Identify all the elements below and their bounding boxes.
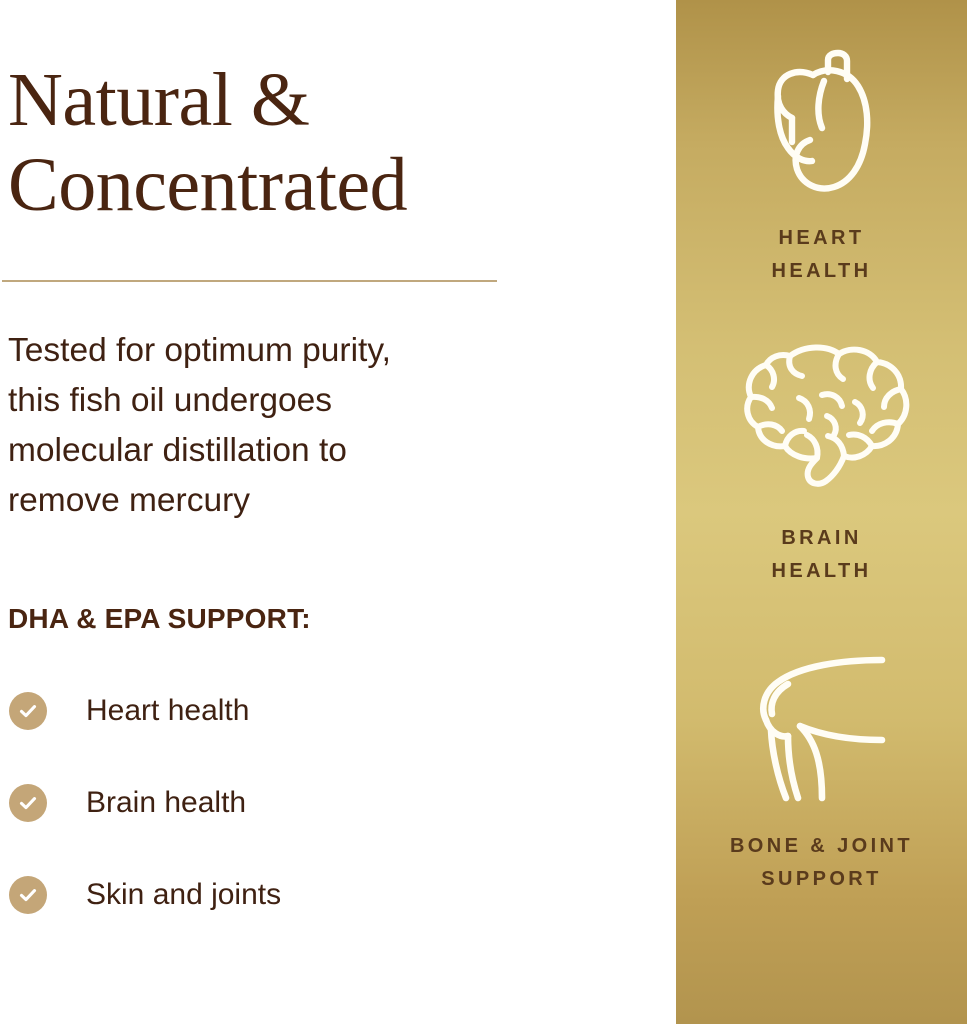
benefit-label-line-2: HEALTH [771, 555, 871, 588]
benefit-label-joint: BONE & JOINT SUPPORT [730, 830, 913, 896]
left-content-column: Natural & Concentrated Tested for optimu… [0, 0, 676, 1024]
list-item-label: Heart health [86, 694, 249, 728]
body-line-1: Tested for optimum purity, [8, 326, 548, 376]
knee-joint-icon [742, 648, 902, 808]
benefit-bullet-list: Heart health Brain health Skin and joint… [8, 688, 568, 964]
list-item: Brain health [8, 780, 568, 826]
benefits-sidebar: HEART HEALTH [676, 0, 967, 1024]
list-item: Skin and joints [8, 872, 568, 918]
benefit-label-brain: BRAIN HEALTH [771, 522, 871, 588]
body-line-2: this fish oil undergoes [8, 376, 548, 426]
product-benefits-panel: Natural & Concentrated Tested for optimu… [0, 0, 967, 1024]
list-item-label: Skin and joints [86, 878, 281, 912]
benefit-label-line-2: SUPPORT [730, 863, 913, 896]
body-line-3: molecular distillation to [8, 426, 548, 476]
headline-line-1: Natural & [8, 58, 628, 143]
benefit-block-joint: BONE & JOINT SUPPORT [676, 648, 967, 896]
benefit-label-line-1: BRAIN [771, 522, 871, 555]
list-item: Heart health [8, 688, 568, 734]
benefit-block-heart: HEART HEALTH [676, 48, 967, 288]
body-copy: Tested for optimum purity, this fish oil… [8, 326, 548, 526]
check-icon [9, 876, 47, 914]
heart-icon [752, 48, 892, 200]
benefit-label-heart: HEART HEALTH [771, 222, 871, 288]
support-heading: DHA & EPA SUPPORT: [8, 603, 311, 635]
brain-icon [727, 340, 917, 500]
benefit-block-brain: BRAIN HEALTH [676, 340, 967, 588]
check-icon [9, 692, 47, 730]
benefit-label-line-2: HEALTH [771, 255, 871, 288]
check-icon [9, 784, 47, 822]
divider [2, 280, 497, 282]
body-line-4: remove mercury [8, 476, 548, 526]
page-title: Natural & Concentrated [8, 58, 628, 228]
benefit-label-line-1: BONE & JOINT [730, 830, 913, 863]
list-item-label: Brain health [86, 786, 246, 820]
benefit-label-line-1: HEART [771, 222, 871, 255]
headline-line-2: Concentrated [8, 143, 628, 228]
